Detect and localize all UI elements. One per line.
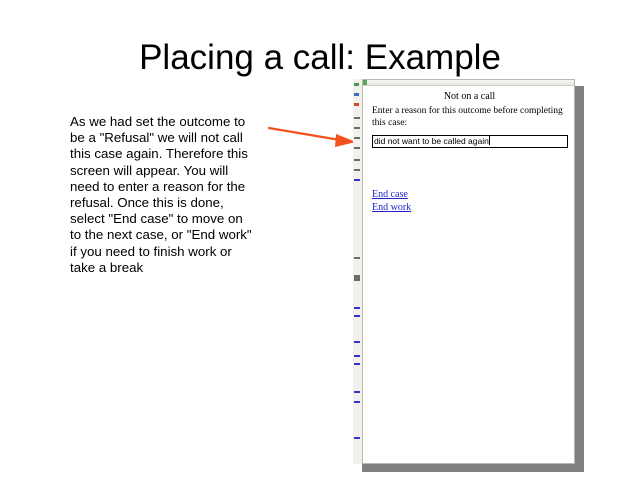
sliver-text-line: [354, 127, 360, 129]
tab-marker-icon: [363, 80, 367, 85]
sliver-text-line: [354, 137, 360, 139]
app-heading: Not on a call: [363, 91, 576, 103]
callout-arrow: [268, 126, 360, 150]
sliver-text-line: [354, 147, 360, 149]
page-title: Placing a call: Example: [0, 37, 640, 79]
sliver-link-line: [354, 315, 360, 317]
app-window-titlebar: [363, 80, 574, 86]
sliver-mark-red: [354, 103, 359, 106]
sliver-text-line: [354, 159, 360, 161]
app-window-content: Not on a call Enter a reason for this ou…: [363, 87, 576, 465]
sliver-link-line: [354, 179, 360, 181]
sliver-link-line: [354, 341, 360, 343]
app-action-links: End case End work: [372, 188, 492, 214]
screenshot-shadow-bottom: [362, 464, 584, 472]
sliver-text-line: [354, 257, 360, 259]
reason-input-value: did not want to be called again: [374, 136, 489, 146]
presentation-slide: Placing a call: Example As we had set th…: [0, 0, 640, 480]
sliver-mark-green: [354, 83, 359, 86]
sliver-text-line: [354, 169, 360, 171]
sliver-link-line: [354, 391, 360, 393]
sliver-text-line: [354, 117, 360, 119]
slide-body-text: As we had set the outcome to be a "Refus…: [70, 114, 256, 276]
sliver-text-line: [354, 275, 360, 281]
app-instruction-text: Enter a reason for this outcome before c…: [372, 106, 572, 129]
text-caret: [489, 136, 490, 145]
end-case-link[interactable]: End case: [372, 188, 492, 201]
embedded-app-screenshot: Not on a call Enter a reason for this ou…: [353, 79, 575, 464]
sliver-link-line: [354, 437, 360, 439]
app-window: Not on a call Enter a reason for this ou…: [362, 79, 575, 464]
screenshot-shadow-right: [575, 86, 584, 471]
sliver-link-line: [354, 401, 360, 403]
end-work-link[interactable]: End work: [372, 201, 492, 214]
arrow-icon: [268, 126, 360, 150]
reason-input[interactable]: did not want to be called again: [372, 135, 568, 148]
sliver-link-line: [354, 307, 360, 309]
sliver-link-line: [354, 363, 360, 365]
sliver-mark-blue: [354, 93, 359, 96]
sliver-link-line: [354, 355, 360, 357]
